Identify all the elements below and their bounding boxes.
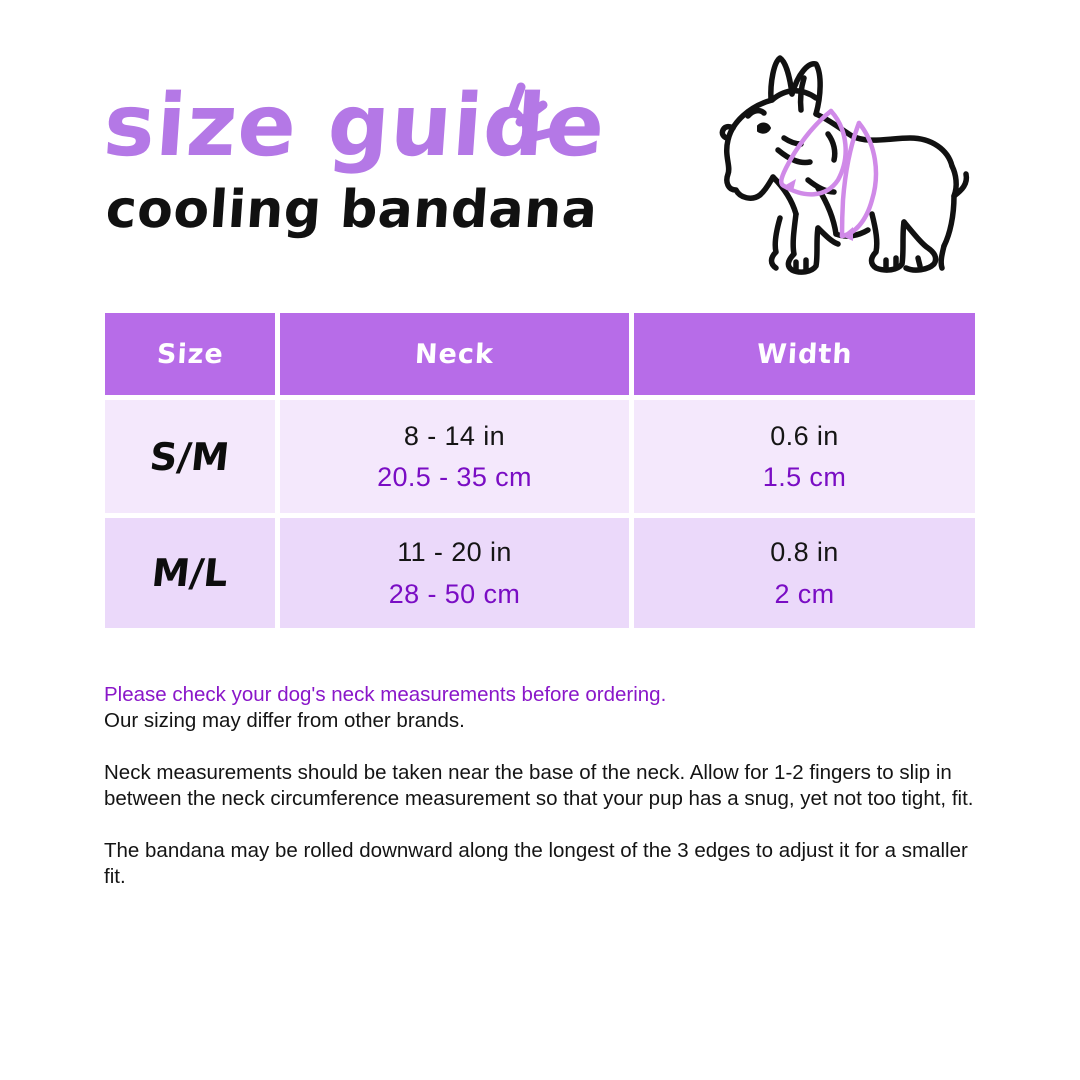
column-header-label: Neck (414, 339, 494, 370)
width-cm-value: 1.5 cm (763, 463, 846, 491)
size-label: S/M (148, 435, 232, 479)
size-guide-page: size guide cooling bandana (0, 0, 1080, 1080)
size-label: M/L (150, 551, 231, 595)
column-header-label: Width (756, 339, 853, 370)
sparkle-lines-icon (492, 78, 572, 162)
neck-cm-value: 28 - 50 cm (389, 580, 521, 608)
table-header-cell-size: Size (105, 313, 275, 395)
table-header-cell-neck: Neck (280, 313, 629, 395)
table-header-cell-width: Width (634, 313, 975, 395)
notes-section: Please check your dog's neck measurement… (104, 682, 984, 890)
table-cell-width: 0.8 in 2 cm (634, 518, 975, 628)
neck-cm-value: 20.5 - 35 cm (377, 463, 532, 491)
page-subtitle: cooling bandana (104, 184, 576, 236)
table-cell-size: M/L (105, 518, 275, 628)
note-paragraph-measuring: Neck measurements should be taken near t… (104, 760, 979, 812)
french-bulldog-measurement-illustration (700, 38, 982, 284)
width-inches-value: 0.6 in (770, 422, 838, 450)
neck-inches-value: 8 - 14 in (404, 422, 505, 450)
note-highlight-line: Please check your dog's neck measurement… (104, 682, 984, 708)
width-cm-value: 2 cm (774, 580, 834, 608)
width-inches-value: 0.8 in (770, 538, 838, 566)
neck-inches-value: 11 - 20 in (397, 538, 512, 566)
table-cell-neck: 8 - 14 in 20.5 - 35 cm (280, 400, 629, 513)
table-cell-neck: 11 - 20 in 28 - 50 cm (280, 518, 629, 628)
header-section: size guide cooling bandana (0, 0, 1080, 290)
table-header-row: Size Neck Width (105, 313, 975, 395)
table-cell-width: 0.6 in 1.5 cm (634, 400, 975, 513)
note-secondary-line: Our sizing may differ from other brands. (104, 708, 984, 734)
note-paragraph-rolling: The bandana may be rolled downward along… (104, 838, 979, 890)
size-chart-table: Size Neck Width S/M 8 - 14 in 20.5 - 35 … (105, 313, 975, 628)
table-row: M/L 11 - 20 in 28 - 50 cm 0.8 in 2 cm (105, 518, 975, 628)
table-row: S/M 8 - 14 in 20.5 - 35 cm 0.6 in 1.5 cm (105, 400, 975, 513)
column-header-label: Size (156, 339, 224, 370)
table-cell-size: S/M (105, 400, 275, 513)
